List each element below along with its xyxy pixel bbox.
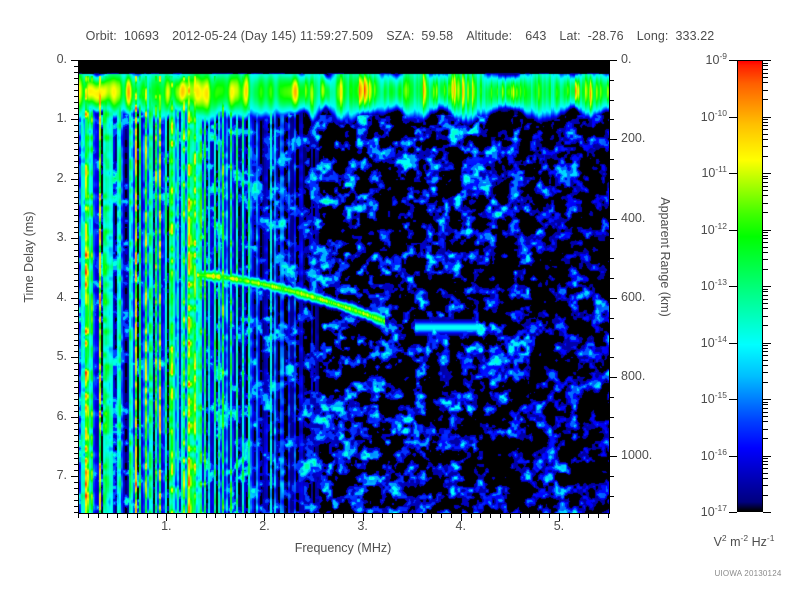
y-left-tick-mark (71, 119, 78, 120)
y-left-tick-label: 5. (27, 349, 67, 363)
y-left-tick-mark (74, 316, 78, 317)
colorbar-minor-tick (763, 478, 768, 479)
y-left-tick-mark (74, 96, 78, 97)
y-left-tick-label: 1. (27, 111, 67, 125)
y-left-tick-mark (71, 60, 78, 61)
y-left-tick-mark (74, 500, 78, 501)
sza-value: 59.58 (421, 29, 453, 43)
x-tick-mark (294, 513, 295, 518)
units-hz-exp: -1 (767, 533, 775, 543)
units-m-exp: -2 (741, 533, 749, 543)
credit-text: UIOWA 20130124 (700, 569, 796, 578)
colorbar-minor-tick (763, 182, 768, 183)
colorbar-minor-tick (763, 345, 768, 346)
x-tick-mark (598, 513, 599, 518)
colorbar-minor-tick (763, 139, 768, 140)
y-left-tick-mark (71, 298, 78, 299)
colorbar-minor-tick (763, 269, 768, 270)
x-tick-mark (333, 513, 334, 518)
y-left-tick-mark (74, 155, 78, 156)
colorbar-major-tick (729, 230, 737, 231)
x-tick-mark (225, 513, 226, 518)
x-tick-label: 2. (244, 519, 284, 533)
x-tick-mark (372, 513, 373, 518)
y-left-tick-mark (74, 363, 78, 364)
x-tick-mark (441, 513, 442, 518)
colorbar-major-tick (763, 60, 771, 61)
colorbar-label-exponent: -12 (715, 221, 727, 231)
y-left-tick-mark (74, 405, 78, 406)
colorbar-minor-tick (763, 122, 768, 123)
x-tick-mark (451, 513, 452, 518)
y-left-tick-mark (74, 191, 78, 192)
x-tick-mark (490, 513, 491, 518)
y-left-tick-mark (74, 209, 78, 210)
y-right-tick-mark (609, 437, 614, 438)
colorbar-minor-tick (763, 325, 768, 326)
y-left-tick-mark (74, 244, 78, 245)
colorbar-minor-tick (763, 247, 768, 248)
colorbar-minor-tick (763, 65, 768, 66)
y-left-tick-mark (74, 328, 78, 329)
y-left-tick-mark (74, 131, 78, 132)
y-right-tick-mark (609, 397, 614, 398)
y-left-tick-mark (74, 435, 78, 436)
colorbar-minor-tick (763, 235, 768, 236)
colorbar-minor-tick (763, 372, 768, 373)
x-axis-title: Frequency (MHz) (78, 541, 608, 555)
colorbar-label-exponent: -9 (719, 51, 727, 61)
y-left-tick-mark (74, 322, 78, 323)
y-left-tick-mark (74, 506, 78, 507)
y-left-tick-mark (74, 84, 78, 85)
x-tick-mark (137, 513, 138, 518)
colorbar-minor-tick (763, 73, 768, 74)
y-left-tick-mark (74, 137, 78, 138)
y-left-tick-mark (74, 90, 78, 91)
x-tick-mark (520, 513, 521, 518)
colorbar-minor-tick (763, 485, 768, 486)
colorbar-tick-label: 10-14 (701, 334, 727, 350)
x-tick-mark (588, 513, 589, 518)
x-tick-mark (215, 513, 216, 518)
y-right-tick-mark (609, 179, 614, 180)
units-v: V (714, 535, 722, 549)
colorbar-minor-tick (763, 468, 768, 469)
y-left-tick-mark (74, 143, 78, 144)
colorbar-minor-tick (763, 90, 768, 91)
y-left-tick-mark (74, 447, 78, 448)
colorbar-minor-tick (763, 404, 768, 405)
colorbar-minor-tick (763, 299, 768, 300)
y-right-tick-mark (609, 338, 614, 339)
y-left-tick-label: 0. (27, 52, 67, 66)
colorbar-tick-label: 10-15 (701, 390, 727, 406)
orbit-label: Orbit: (86, 29, 117, 43)
x-tick-mark (147, 513, 148, 518)
colorbar-minor-tick (763, 464, 768, 465)
colorbar-minor-tick (763, 203, 768, 204)
colorbar-major-tick (763, 512, 771, 513)
colorbar-minor-tick (763, 119, 768, 120)
colorbar-major-tick (763, 343, 771, 344)
colorbar-label-mantissa: 10 (701, 392, 715, 406)
x-tick-mark (196, 513, 197, 518)
colorbar-minor-tick (763, 238, 768, 239)
colorbar-minor-tick (763, 473, 768, 474)
sza-label: SZA: (386, 29, 414, 43)
colorbar-major-tick (763, 173, 771, 174)
y-left-tick-mark (74, 494, 78, 495)
y-left-tick-mark (74, 280, 78, 281)
colorbar-minor-tick (763, 212, 768, 213)
y-left-tick-mark (74, 453, 78, 454)
colorbar-minor-tick (763, 176, 768, 177)
units-hz: Hz (748, 535, 767, 549)
y-left-tick-mark (74, 161, 78, 162)
units-m: m (727, 535, 741, 549)
y-right-tick-mark (609, 100, 614, 101)
x-tick-mark (431, 513, 432, 518)
y-right-tick-mark (609, 159, 614, 160)
y-left-tick-mark (74, 262, 78, 263)
colorbar-major-tick (729, 512, 737, 513)
y-left-tick-mark (74, 250, 78, 251)
y-left-tick-label: 7. (27, 468, 67, 482)
x-tick-mark (392, 513, 393, 518)
colorbar-minor-tick (763, 438, 768, 439)
colorbar-minor-tick (763, 178, 768, 179)
altitude-label: Altitude: (466, 29, 512, 43)
x-tick-label: 5. (539, 519, 579, 533)
y-left-tick-mark (74, 185, 78, 186)
colorbar-minor-tick (763, 495, 768, 496)
y-right-tick-label: 1000. (621, 448, 652, 462)
altitude-value: 643 (525, 29, 546, 43)
colorbar-minor-tick (763, 412, 768, 413)
colorbar-minor-tick (763, 461, 768, 462)
x-tick-label: 1. (146, 519, 186, 533)
colorbar-tick-label: 10-17 (701, 503, 727, 519)
y-right-tick-mark (609, 496, 614, 497)
x-tick-mark (608, 513, 609, 518)
y-right-tick-mark (609, 258, 614, 259)
colorbar-minor-tick (763, 134, 768, 135)
x-tick-mark (480, 513, 481, 518)
lat-value: -28.76 (588, 29, 624, 43)
y-left-tick-mark (74, 375, 78, 376)
y-left-tick-mark (74, 286, 78, 287)
y-left-tick-mark (74, 464, 78, 465)
orbit-value: 10693 (124, 29, 159, 43)
y-left-tick-label: 3. (27, 230, 67, 244)
colorbar-minor-tick (763, 408, 768, 409)
y-left-tick-mark (74, 203, 78, 204)
y-axis-title-right: Apparent Range (km) (658, 157, 672, 357)
colorbar-label-exponent: -15 (715, 390, 727, 400)
x-tick-mark (206, 513, 207, 518)
colorbar-minor-tick (763, 348, 768, 349)
x-tick-mark (579, 513, 580, 518)
colorbar-minor-tick (763, 458, 768, 459)
colorbar-major-tick (729, 343, 737, 344)
x-tick-mark (78, 513, 79, 518)
colorbar-label-exponent: -11 (715, 164, 727, 174)
y-left-tick-mark (74, 167, 78, 168)
y-right-tick-mark (609, 219, 617, 220)
y-left-tick-mark (74, 369, 78, 370)
y-left-tick-mark (74, 470, 78, 471)
y-left-tick-mark (74, 488, 78, 489)
colorbar (737, 60, 763, 512)
colorbar-label-mantissa: 10 (701, 223, 715, 237)
colorbar-minor-tick (763, 82, 768, 83)
y-left-tick-mark (74, 387, 78, 388)
colorbar-tick-label: 10-12 (701, 221, 727, 237)
colorbar-minor-tick (763, 360, 768, 361)
x-tick-mark (176, 513, 177, 518)
x-tick-mark (549, 513, 550, 518)
x-tick-mark (235, 513, 236, 518)
y-left-tick-mark (74, 72, 78, 73)
y-right-tick-mark (609, 476, 614, 477)
colorbar-label-mantissa: 10 (701, 110, 715, 124)
y-left-tick-label: 6. (27, 409, 67, 423)
colorbar-minor-tick (763, 402, 768, 403)
y-left-tick-mark (74, 292, 78, 293)
y-left-tick-mark (74, 114, 78, 115)
x-tick-mark (304, 513, 305, 518)
y-left-tick-mark (74, 351, 78, 352)
y-right-tick-mark (609, 417, 614, 418)
y-left-tick-mark (74, 340, 78, 341)
colorbar-minor-tick (763, 421, 768, 422)
y-left-tick-mark (74, 334, 78, 335)
x-tick-mark (314, 513, 315, 518)
colorbar-minor-tick (763, 146, 768, 147)
x-tick-mark (539, 513, 540, 518)
colorbar-minor-tick (763, 186, 768, 187)
colorbar-label-mantissa: 10 (701, 505, 715, 519)
colorbar-minor-tick (763, 99, 768, 100)
x-tick-mark (422, 513, 423, 518)
colorbar-units-label: V2 m-2 Hz-1 (688, 533, 800, 549)
y-left-tick-mark (74, 441, 78, 442)
spectrogram-plot-area (78, 60, 610, 514)
y-left-tick-mark (74, 66, 78, 67)
colorbar-major-tick (763, 286, 771, 287)
y-right-tick-mark (609, 139, 617, 140)
colorbar-major-tick (729, 60, 737, 61)
colorbar-major-tick (729, 173, 737, 174)
x-tick-mark (127, 513, 128, 518)
colorbar-minor-tick (763, 308, 768, 309)
y-right-tick-mark (609, 199, 614, 200)
y-right-tick-label: 0. (621, 52, 631, 66)
colorbar-major-tick (729, 117, 737, 118)
colorbar-minor-tick (763, 242, 768, 243)
y-left-tick-mark (74, 458, 78, 459)
colorbar-minor-tick (763, 289, 768, 290)
y-left-tick-label: 2. (27, 171, 67, 185)
y-right-tick-mark (609, 377, 617, 378)
y-left-tick-mark (74, 197, 78, 198)
colorbar-label-exponent: -17 (715, 503, 727, 513)
y-left-tick-mark (74, 268, 78, 269)
y-right-tick-mark (609, 80, 614, 81)
colorbar-minor-tick (763, 365, 768, 366)
colorbar-label-exponent: -10 (715, 108, 727, 118)
y-left-tick-label: 4. (27, 290, 67, 304)
x-tick-mark (284, 513, 285, 518)
y-left-tick-mark (74, 221, 78, 222)
colorbar-label-mantissa: 10 (706, 53, 720, 67)
y-right-tick-mark (609, 60, 617, 61)
colorbar-label-exponent: -16 (715, 447, 727, 457)
x-tick-label: 3. (343, 519, 383, 533)
x-tick-mark (412, 513, 413, 518)
y-left-tick-mark (74, 173, 78, 174)
x-tick-mark (255, 513, 256, 518)
y-left-tick-mark (74, 215, 78, 216)
ionogram-figure: Orbit:106932012-05-24 (Day 145) 11:59:27… (0, 0, 800, 600)
colorbar-minor-tick (763, 382, 768, 383)
y-right-tick-mark (609, 278, 614, 279)
y-left-tick-mark (74, 381, 78, 382)
y-left-tick-mark (71, 238, 78, 239)
y-right-tick-label: 400. (621, 211, 645, 225)
y-left-tick-mark (74, 411, 78, 412)
x-tick-mark (117, 513, 118, 518)
colorbar-minor-tick (763, 190, 768, 191)
colorbar-major-tick (763, 230, 771, 231)
y-right-tick-mark (609, 318, 614, 319)
colorbar-tick-label: 10-11 (701, 164, 727, 180)
y-left-tick-mark (74, 423, 78, 424)
x-tick-mark (569, 513, 570, 518)
colorbar-minor-tick (763, 125, 768, 126)
x-tick-mark (107, 513, 108, 518)
long-label: Long: (637, 29, 669, 43)
colorbar-major-tick (763, 456, 771, 457)
x-tick-mark (402, 513, 403, 518)
x-tick-mark (157, 513, 158, 518)
y-axis-title-left: Time Delay (ms) (22, 167, 36, 347)
y-right-tick-mark (609, 119, 614, 120)
colorbar-label-mantissa: 10 (701, 166, 715, 180)
y-right-tick-mark (609, 357, 614, 358)
y-left-tick-mark (71, 476, 78, 477)
colorbar-tick-label: 10-9 (706, 51, 727, 67)
colorbar-minor-tick (763, 252, 768, 253)
colorbar-major-tick (763, 399, 771, 400)
y-left-tick-mark (74, 274, 78, 275)
y-right-tick-mark (609, 298, 617, 299)
x-tick-mark (471, 513, 472, 518)
y-left-tick-mark (74, 227, 78, 228)
colorbar-gradient (737, 60, 763, 512)
colorbar-label-exponent: -13 (715, 277, 727, 287)
x-tick-mark (353, 513, 354, 518)
y-left-tick-mark (74, 256, 78, 257)
y-right-tick-mark (609, 238, 614, 239)
y-left-tick-mark (74, 125, 78, 126)
y-left-tick-mark (74, 102, 78, 103)
colorbar-minor-tick (763, 291, 768, 292)
y-left-tick-mark (74, 149, 78, 150)
colorbar-label-mantissa: 10 (701, 449, 715, 463)
colorbar-minor-tick (763, 316, 768, 317)
colorbar-minor-tick (763, 416, 768, 417)
x-tick-mark (98, 513, 99, 518)
y-left-tick-mark (74, 304, 78, 305)
colorbar-minor-tick (763, 77, 768, 78)
colorbar-minor-tick (763, 259, 768, 260)
y-right-tick-label: 200. (621, 131, 645, 145)
x-tick-mark (274, 513, 275, 518)
colorbar-minor-tick (763, 351, 768, 352)
y-left-tick-mark (74, 399, 78, 400)
spectrogram-canvas (79, 61, 609, 513)
colorbar-minor-tick (763, 129, 768, 130)
y-left-tick-mark (74, 232, 78, 233)
colorbar-major-tick (729, 286, 737, 287)
colorbar-minor-tick (763, 195, 768, 196)
colorbar-minor-tick (763, 232, 768, 233)
y-right-tick-label: 600. (621, 290, 645, 304)
long-value: 333.22 (676, 29, 715, 43)
colorbar-label-exponent: -14 (715, 334, 727, 344)
x-tick-mark (382, 513, 383, 518)
x-tick-mark (500, 513, 501, 518)
colorbar-tick-label: 10-16 (701, 447, 727, 463)
x-tick-mark (186, 513, 187, 518)
y-left-tick-mark (71, 417, 78, 418)
y-left-tick-mark (74, 108, 78, 109)
date-time-value: 2012-05-24 (Day 145) 11:59:27.509 (172, 29, 373, 43)
y-left-tick-mark (74, 345, 78, 346)
y-left-tick-mark (74, 429, 78, 430)
colorbar-minor-tick (763, 355, 768, 356)
x-tick-mark (343, 513, 344, 518)
y-left-tick-mark (74, 393, 78, 394)
y-left-tick-mark (71, 179, 78, 180)
y-left-tick-mark (74, 310, 78, 311)
colorbar-major-tick (729, 399, 737, 400)
metadata-header: Orbit:106932012-05-24 (Day 145) 11:59:27… (0, 29, 800, 43)
x-tick-mark (88, 513, 89, 518)
colorbar-major-tick (729, 456, 737, 457)
colorbar-tick-label: 10-13 (701, 277, 727, 293)
colorbar-label-mantissa: 10 (701, 336, 715, 350)
colorbar-minor-tick (763, 303, 768, 304)
colorbar-label-mantissa: 10 (701, 279, 715, 293)
y-left-tick-mark (74, 482, 78, 483)
colorbar-minor-tick (763, 63, 768, 64)
colorbar-minor-tick (763, 295, 768, 296)
x-tick-mark (510, 513, 511, 518)
colorbar-minor-tick (763, 156, 768, 157)
y-left-tick-mark (74, 78, 78, 79)
x-tick-mark (529, 513, 530, 518)
y-right-tick-label: 800. (621, 369, 645, 383)
colorbar-minor-tick (763, 69, 768, 70)
x-tick-mark (323, 513, 324, 518)
x-tick-label: 4. (441, 519, 481, 533)
colorbar-major-tick (763, 117, 771, 118)
colorbar-tick-label: 10-10 (701, 108, 727, 124)
colorbar-minor-tick (763, 429, 768, 430)
